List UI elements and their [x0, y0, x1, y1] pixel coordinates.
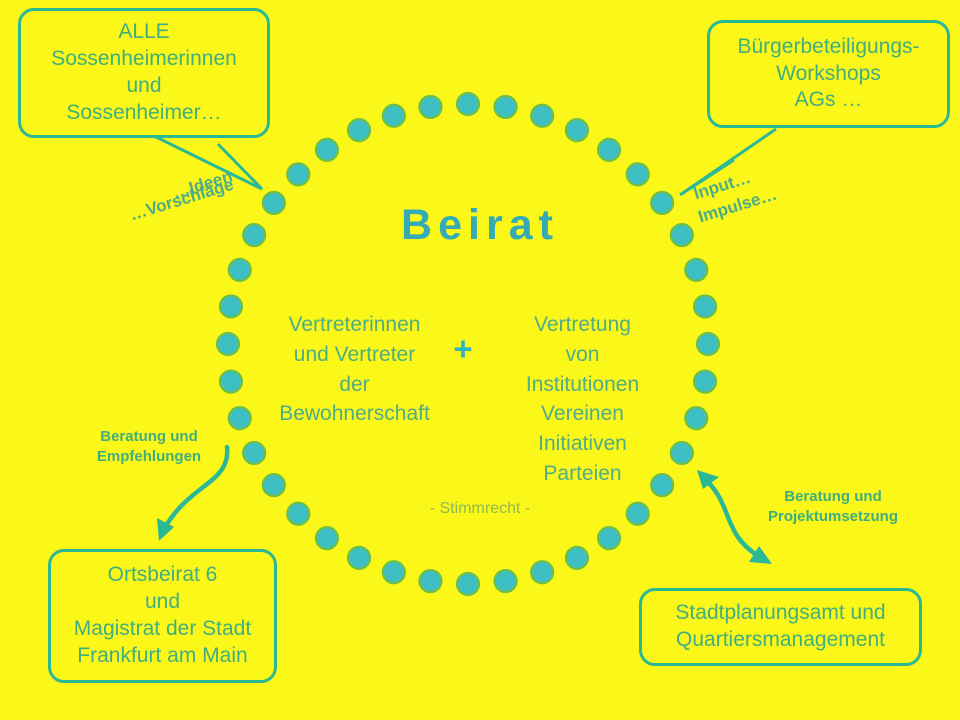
ring-dot: [457, 573, 479, 595]
ring-dot: [220, 295, 242, 317]
center-right-line-1: Vertretung: [500, 310, 665, 340]
ring-dot: [598, 139, 620, 161]
bubble-residents-line-3: und: [126, 73, 161, 100]
ring-dot: [229, 259, 251, 281]
center-right-line-5: Initiativen: [500, 429, 665, 459]
center-left-column: Vertreterinnen und Vertreter der Bewohne…: [272, 310, 437, 429]
label-beratung-projektumsetzung: Beratung und Projektumsetzung: [748, 487, 918, 528]
bubble-workshops-line-2: Workshops: [776, 61, 881, 88]
ring-dot: [566, 547, 588, 569]
center-left-line-2: und Vertreter: [272, 340, 437, 370]
ring-dot: [457, 93, 479, 115]
plus-icon: +: [443, 330, 483, 368]
ring-dot: [531, 105, 553, 127]
ring-dot: [287, 163, 309, 185]
ring-dot: [598, 527, 620, 549]
bubble-residents[interactable]: ALLE Sossenheimerinnen und Sossenheimer…: [18, 8, 270, 138]
bubble-residents-line-4: Sossenheimer…: [66, 100, 221, 127]
ring-dot: [229, 407, 251, 429]
center-right-column: Vertretung von Institutionen Vereinen In…: [500, 310, 665, 489]
box-ortsbeirat-line-4: Frankfurt am Main: [77, 643, 247, 670]
ring-dot: [217, 333, 239, 355]
arrowhead-up-left: [697, 470, 719, 489]
arrowhead-down-right: [749, 546, 772, 564]
bubble-workshops[interactable]: Bürgerbeteiligungs- Workshops AGs …: [707, 20, 950, 128]
ring-dot: [419, 96, 441, 118]
ring-dot: [697, 333, 719, 355]
label-beratung-projektumsetzung-line-2: Projektumsetzung: [748, 507, 918, 527]
ring-dot: [383, 105, 405, 127]
center-right-line-3: Institutionen: [500, 370, 665, 400]
ring-dot: [685, 259, 707, 281]
box-ortsbeirat-line-3: Magistrat der Stadt: [74, 616, 251, 643]
box-ortsbeirat-line-2: und: [145, 589, 180, 616]
ring-dot: [685, 407, 707, 429]
ring-dot: [220, 371, 242, 393]
label-beratung-empfehlungen: Beratung und Empfehlungen: [79, 427, 219, 468]
label-beratung-empfehlungen-line-2: Empfehlungen: [79, 447, 219, 467]
ring-dot: [348, 547, 370, 569]
bubble-workshops-line-1: Bürgerbeteiligungs-: [737, 34, 919, 61]
center-right-line-6: Parteien: [500, 459, 665, 489]
center-left-line-4: Bewohnerschaft: [272, 399, 437, 429]
ring-dot: [383, 561, 405, 583]
ring-dot: [694, 295, 716, 317]
bubble-residents-line-1: ALLE: [118, 19, 169, 46]
center-left-line-1: Vertreterinnen: [272, 310, 437, 340]
bubble-residents-line-2: Sossenheimerinnen: [51, 46, 237, 73]
bubble-workshops-line-3: AGs …: [795, 87, 863, 114]
center-right-line-4: Vereinen: [500, 399, 665, 429]
box-stadtplanung[interactable]: Stadtplanungsamt und Quartiersmanagement: [639, 588, 922, 666]
ring-dot: [316, 527, 338, 549]
ring-dot: [627, 163, 649, 185]
ring-dot: [419, 570, 441, 592]
box-ortsbeirat[interactable]: Ortsbeirat 6 und Magistrat der Stadt Fra…: [48, 549, 277, 683]
center-left-line-3: der: [272, 370, 437, 400]
diagram-canvas: ALLE Sossenheimerinnen und Sossenheimer……: [0, 0, 960, 720]
box-stadtplanung-line-2: Quartiersmanagement: [676, 627, 885, 654]
label-beratung-empfehlungen-line-1: Beratung und: [79, 427, 219, 447]
ring-dot: [531, 561, 553, 583]
center-right-line-2: von: [500, 340, 665, 370]
ring-dot: [566, 119, 588, 141]
ring-dot: [671, 442, 693, 464]
ring-dot: [495, 570, 517, 592]
ring-dot: [348, 119, 370, 141]
ring-dot: [694, 371, 716, 393]
label-beratung-projektumsetzung-line-1: Beratung und: [748, 487, 918, 507]
ring-dot: [243, 442, 265, 464]
arrowhead-down-left: [157, 518, 174, 541]
ring-dot: [316, 139, 338, 161]
box-ortsbeirat-line-1: Ortsbeirat 6: [108, 562, 218, 589]
ring-dot: [263, 474, 285, 496]
ring-dot: [495, 96, 517, 118]
box-stadtplanung-line-1: Stadtplanungsamt und: [675, 600, 885, 627]
